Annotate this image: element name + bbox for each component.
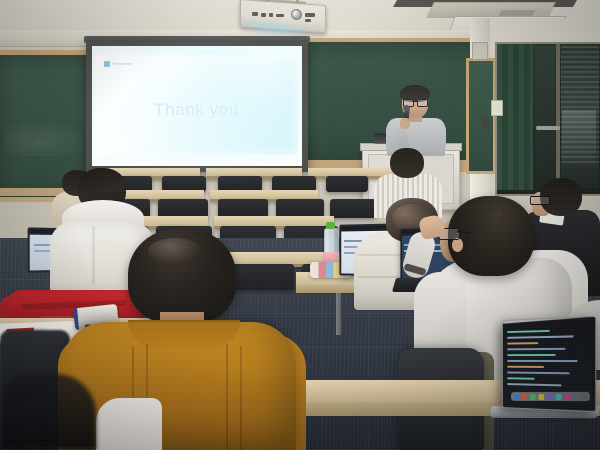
audience-arm <box>414 272 466 350</box>
code-line <box>507 335 573 338</box>
code-line <box>507 372 569 375</box>
door-handle[interactable] <box>536 126 560 130</box>
glasses-icon <box>530 196 550 205</box>
dock-icon[interactable] <box>514 394 519 400</box>
code-editor-screen <box>507 329 588 389</box>
dock-icon[interactable] <box>522 394 528 400</box>
code-line <box>507 330 550 333</box>
dock-icon[interactable] <box>539 394 545 400</box>
audience-white-shirt <box>96 398 162 450</box>
bottle-cap <box>326 222 335 229</box>
chalk-dust <box>4 120 92 156</box>
projector-port <box>252 12 258 16</box>
light-switch[interactable] <box>491 100 503 116</box>
audience-ear <box>452 238 463 252</box>
projector-lens <box>291 9 302 21</box>
slide-logo: Presenter <box>104 60 138 67</box>
chair <box>330 199 376 218</box>
sweater-seam <box>240 346 242 450</box>
projector-port <box>261 13 266 17</box>
window-mullion <box>556 44 560 190</box>
projector-port <box>269 13 273 17</box>
microphone-head <box>403 105 410 111</box>
projector-port <box>305 13 315 17</box>
code-line <box>507 383 561 386</box>
code-line <box>507 377 534 379</box>
chair <box>326 176 368 192</box>
ceiling-vent <box>499 10 536 16</box>
code-line <box>507 366 544 368</box>
desk-leg <box>336 293 341 335</box>
air-conditioner <box>472 42 488 60</box>
presenter-hand <box>400 118 410 129</box>
wall-socket <box>481 118 489 128</box>
dock-icon[interactable] <box>530 394 536 400</box>
chalkboard-right <box>466 58 496 174</box>
window-reflection <box>562 110 596 170</box>
classroom-photo: Presenter Thank you <box>0 0 600 450</box>
hair-highlight <box>148 238 202 264</box>
dock-icon[interactable] <box>547 393 553 399</box>
hoodie-seam <box>92 226 95 284</box>
slide-headline: Thank you <box>95 100 298 120</box>
foreground-shadow <box>0 374 96 450</box>
projector-port <box>276 14 284 17</box>
slide-logo-text: Presenter <box>112 61 132 66</box>
green-curtain <box>497 44 533 190</box>
audience-head <box>390 148 424 178</box>
dock-icon[interactable] <box>556 393 562 399</box>
code-line <box>507 348 565 351</box>
code-line <box>507 342 538 344</box>
sweater-seam <box>226 344 228 450</box>
dock <box>511 392 590 401</box>
presenter-arm <box>430 122 446 152</box>
projector-port <box>305 19 311 22</box>
sweater-collar <box>128 320 240 348</box>
logo-mark-icon <box>104 61 110 67</box>
chair <box>232 264 294 290</box>
code-line <box>507 360 578 362</box>
window-glass <box>535 46 555 188</box>
code-line <box>507 354 556 356</box>
dock-icon[interactable] <box>565 393 571 399</box>
